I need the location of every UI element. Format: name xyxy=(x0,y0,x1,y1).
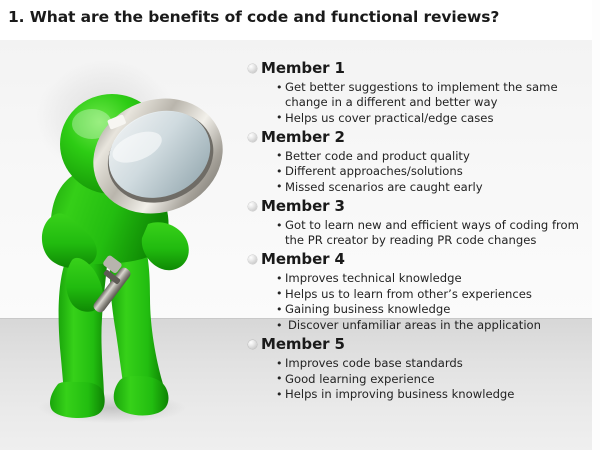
list-item: Get better suggestions to implement the … xyxy=(276,80,596,110)
list-item: Helps in improving business knowledge xyxy=(276,387,596,402)
member-title-text: Member 5 xyxy=(261,336,345,353)
member-points-4: Improves technical knowledge Helps us to… xyxy=(248,271,596,333)
list-item: Got to learn new and efficient ways of c… xyxy=(276,218,596,248)
list-item: Helps us to learn from other’s experienc… xyxy=(276,287,596,302)
member-points-5: Improves code base standards Good learni… xyxy=(248,356,596,402)
figure-right-arm xyxy=(142,222,189,270)
sphere-bullet-icon xyxy=(248,340,257,349)
list-item: Better code and product quality xyxy=(276,149,596,164)
member-heading-2: Member 2 xyxy=(248,127,596,148)
page-title: 1. What are the benefits of code and fun… xyxy=(8,8,588,26)
sphere-bullet-icon xyxy=(248,255,257,264)
member-heading-3: Member 3 xyxy=(248,196,596,217)
member-title-text: Member 1 xyxy=(261,60,345,77)
member-block-5: Member 5 Improves code base standards Go… xyxy=(248,334,596,402)
member-heading-1: Member 1 xyxy=(248,58,596,79)
slide-root: 1. What are the benefits of code and fun… xyxy=(0,0,600,450)
member-title-text: Member 2 xyxy=(261,129,345,146)
member-block-2: Member 2 Better code and product quality… xyxy=(248,127,596,195)
member-heading-5: Member 5 xyxy=(248,334,596,355)
list-item: Gaining business knowledge xyxy=(276,302,596,317)
member-block-4: Member 4 Improves technical knowledge He… xyxy=(248,249,596,333)
green-figure-svg xyxy=(20,48,230,423)
sphere-bullet-icon xyxy=(248,133,257,142)
illustration-green-figure xyxy=(20,48,230,423)
member-title-text: Member 4 xyxy=(261,251,345,268)
list-item: Helps us cover practical/edge cases xyxy=(276,111,596,126)
member-title-text: Member 3 xyxy=(261,198,345,215)
figure-left-foot xyxy=(50,382,105,418)
members-content: Member 1 Get better suggestions to imple… xyxy=(248,58,596,403)
list-item: Missed scenarios are caught early xyxy=(276,180,596,195)
member-points-2: Better code and product quality Differen… xyxy=(248,149,596,195)
member-points-1: Get better suggestions to implement the … xyxy=(248,80,596,126)
list-item: Different approaches/solutions xyxy=(276,164,596,179)
figure-right-foot xyxy=(114,376,169,415)
member-points-3: Got to learn new and efficient ways of c… xyxy=(248,218,596,248)
sphere-bullet-icon xyxy=(248,202,257,211)
member-heading-4: Member 4 xyxy=(248,249,596,270)
member-block-3: Member 3 Got to learn new and efficient … xyxy=(248,196,596,248)
member-block-1: Member 1 Get better suggestions to imple… xyxy=(248,58,596,126)
list-item: Good learning experience xyxy=(276,372,596,387)
list-item: Improves technical knowledge xyxy=(276,271,596,286)
list-item: Discover unfamiliar areas in the applica… xyxy=(276,318,596,333)
list-item: Improves code base standards xyxy=(276,356,596,371)
sphere-bullet-icon xyxy=(248,64,257,73)
